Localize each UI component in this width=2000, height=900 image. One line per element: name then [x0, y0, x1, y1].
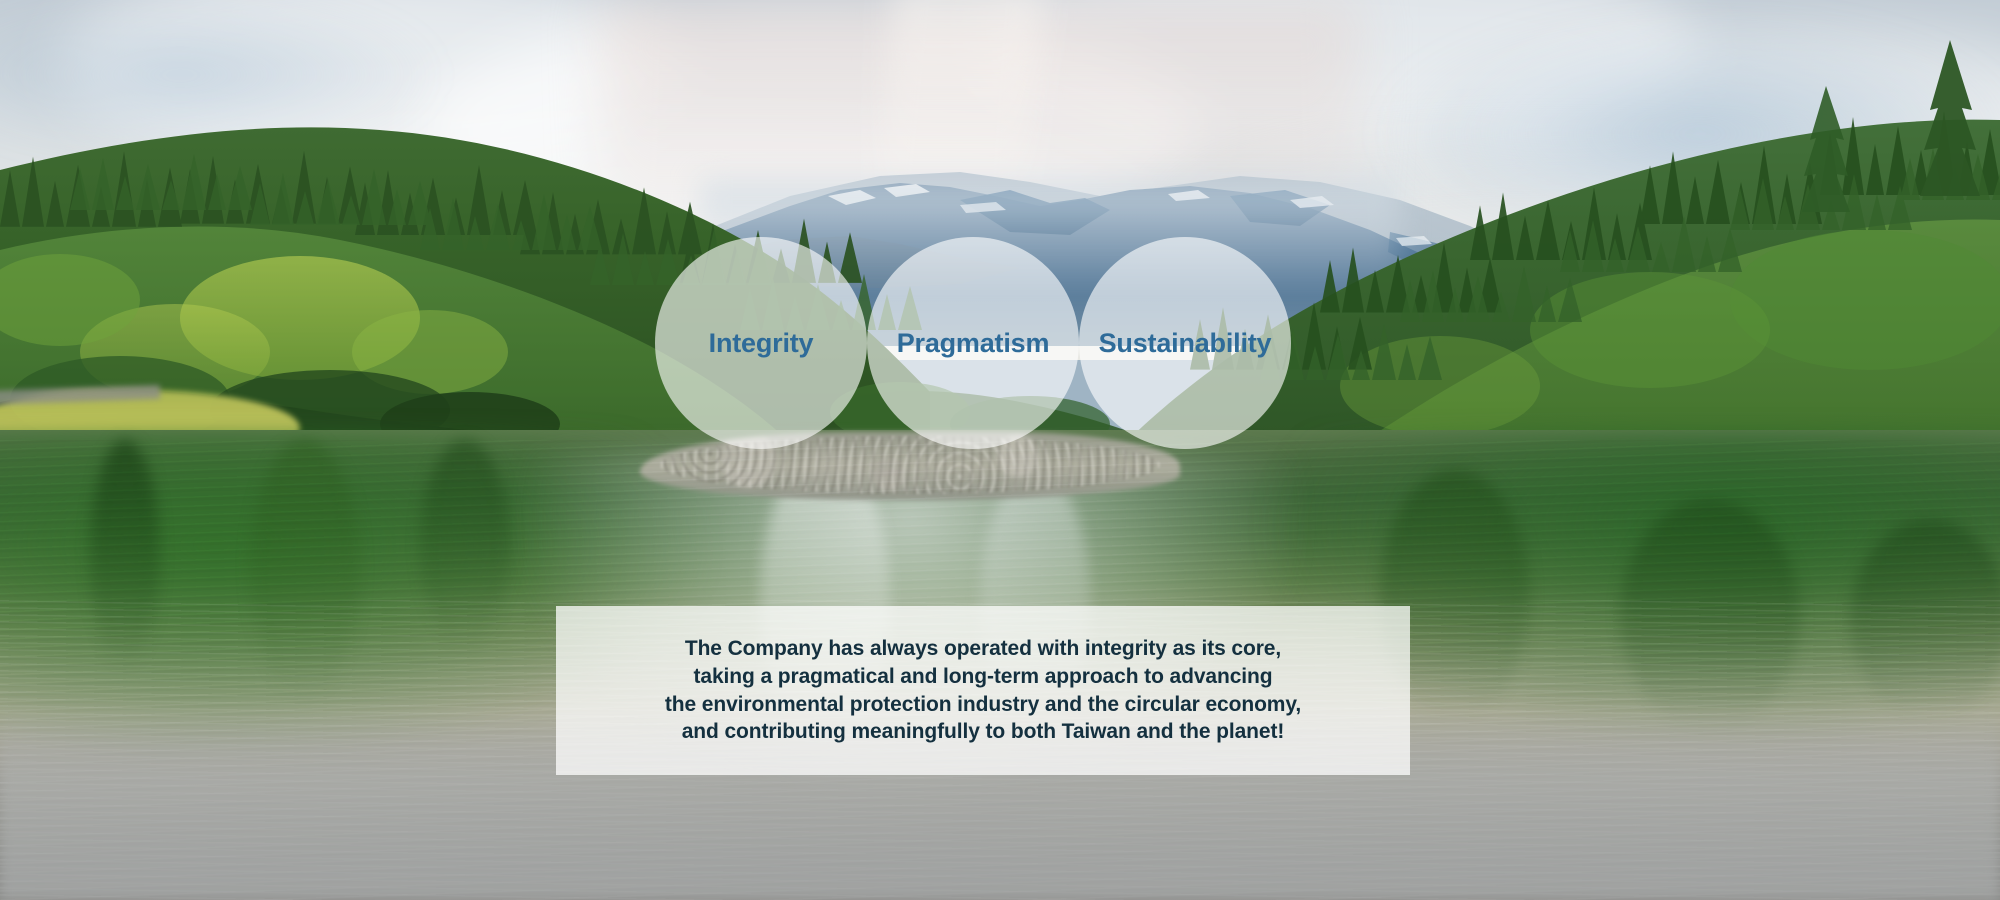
- value-circle-pragmatism[interactable]: Pragmatism: [867, 237, 1079, 449]
- mission-line-2: taking a pragmatical and long-term appro…: [665, 663, 1301, 691]
- core-values-group: Integrity Pragmatism Sustainability: [655, 237, 1290, 449]
- mission-line-1: The Company has always operated with int…: [665, 635, 1301, 663]
- mission-statement-panel: The Company has always operated with int…: [556, 606, 1410, 775]
- value-label-sustainability: Sustainability: [1099, 330, 1272, 357]
- value-circle-integrity[interactable]: Integrity: [655, 237, 867, 449]
- banner-stage: Integrity Pragmatism Sustainability The …: [0, 0, 2000, 900]
- mission-line-4: and contributing meaningfully to both Ta…: [665, 718, 1301, 746]
- value-circle-sustainability[interactable]: Sustainability: [1079, 237, 1291, 449]
- mission-statement-text: The Company has always operated with int…: [643, 635, 1323, 747]
- value-label-integrity: Integrity: [709, 330, 814, 357]
- mission-line-3: the environmental protection industry an…: [665, 691, 1301, 719]
- value-label-pragmatism: Pragmatism: [897, 330, 1050, 357]
